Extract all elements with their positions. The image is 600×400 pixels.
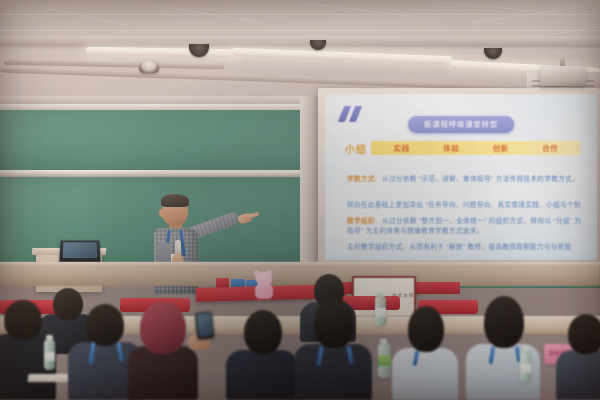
audience-member bbox=[226, 310, 298, 400]
audience-head bbox=[568, 314, 600, 354]
keyword-item: 实践 bbox=[394, 143, 410, 154]
dome-camera-icon bbox=[310, 40, 326, 50]
front-desk-edge bbox=[0, 262, 600, 267]
paragraph-heading: 教学组织: bbox=[347, 218, 378, 225]
keyword-band: 实践 体验 创新 合作 bbox=[371, 141, 581, 155]
audience-torso bbox=[556, 350, 600, 400]
audience-member bbox=[128, 302, 198, 400]
audience-member bbox=[294, 298, 372, 400]
audience-torso bbox=[226, 350, 298, 400]
projected-slide: 新课程呼唤课堂转型 小结 实践 体验 创新 合作 学教方式: 从过分依赖 “示范… bbox=[325, 94, 597, 260]
smartphone-icon bbox=[195, 311, 215, 340]
quote-mark-icon bbox=[339, 106, 365, 122]
keyword-item: 创新 bbox=[493, 143, 509, 154]
water-bottle-icon bbox=[375, 296, 386, 326]
classroom-photo: 新课程呼唤课堂转型 小结 实践 体验 创新 合作 学教方式: 从过分依赖 “示范… bbox=[0, 0, 600, 400]
presenter-ear bbox=[159, 209, 164, 217]
paragraph-body: 从过分依赖 “整齐划一、全体统一” 的组织方式，转向以 “分组” 为主的教学组织… bbox=[347, 218, 581, 260]
paragraph-heading: 学教方式: bbox=[347, 176, 378, 183]
audience-head bbox=[244, 310, 282, 354]
chalkboard-upper bbox=[0, 110, 310, 172]
slide-paragraph: 教学组织: 从过分依赖 “整齐划一、全体统一” 的组织方式，转向以 “分组” 为… bbox=[347, 206, 583, 260]
audience-member bbox=[392, 306, 458, 400]
audience-head bbox=[140, 302, 186, 354]
audience-head bbox=[86, 304, 124, 346]
slide-title-pill: 新课程呼唤课堂转型 bbox=[408, 116, 514, 133]
audience-torso bbox=[392, 348, 458, 400]
dome-camera-icon bbox=[139, 60, 159, 73]
audience-head bbox=[4, 300, 42, 340]
audience-head bbox=[484, 296, 524, 348]
keyword-item: 合作 bbox=[542, 143, 558, 154]
summary-label: 小结 bbox=[345, 141, 367, 156]
water-bottle-icon bbox=[44, 340, 55, 370]
water-bottle-icon bbox=[520, 352, 531, 382]
fluorescent-tube-icon bbox=[232, 48, 452, 64]
audience-head bbox=[408, 306, 444, 352]
audience-head bbox=[314, 298, 354, 348]
wall-pillar bbox=[300, 96, 320, 268]
water-bottle-icon bbox=[378, 344, 391, 378]
chalk-rail bbox=[0, 170, 310, 177]
keyword-item: 体验 bbox=[443, 143, 459, 154]
presenter-hair bbox=[161, 194, 189, 207]
audience-torso bbox=[128, 346, 198, 400]
projector-icon bbox=[540, 66, 586, 86]
paper-sheet bbox=[27, 374, 70, 382]
dome-camera-icon bbox=[484, 48, 502, 59]
plush-mascot bbox=[253, 271, 275, 299]
audience-member bbox=[556, 314, 600, 400]
fluorescent-tube-icon bbox=[86, 47, 236, 58]
laptop-icon bbox=[59, 241, 100, 263]
slide-summary-row: 小结 实践 体验 创新 合作 bbox=[345, 140, 581, 156]
audience-torso bbox=[294, 344, 372, 400]
